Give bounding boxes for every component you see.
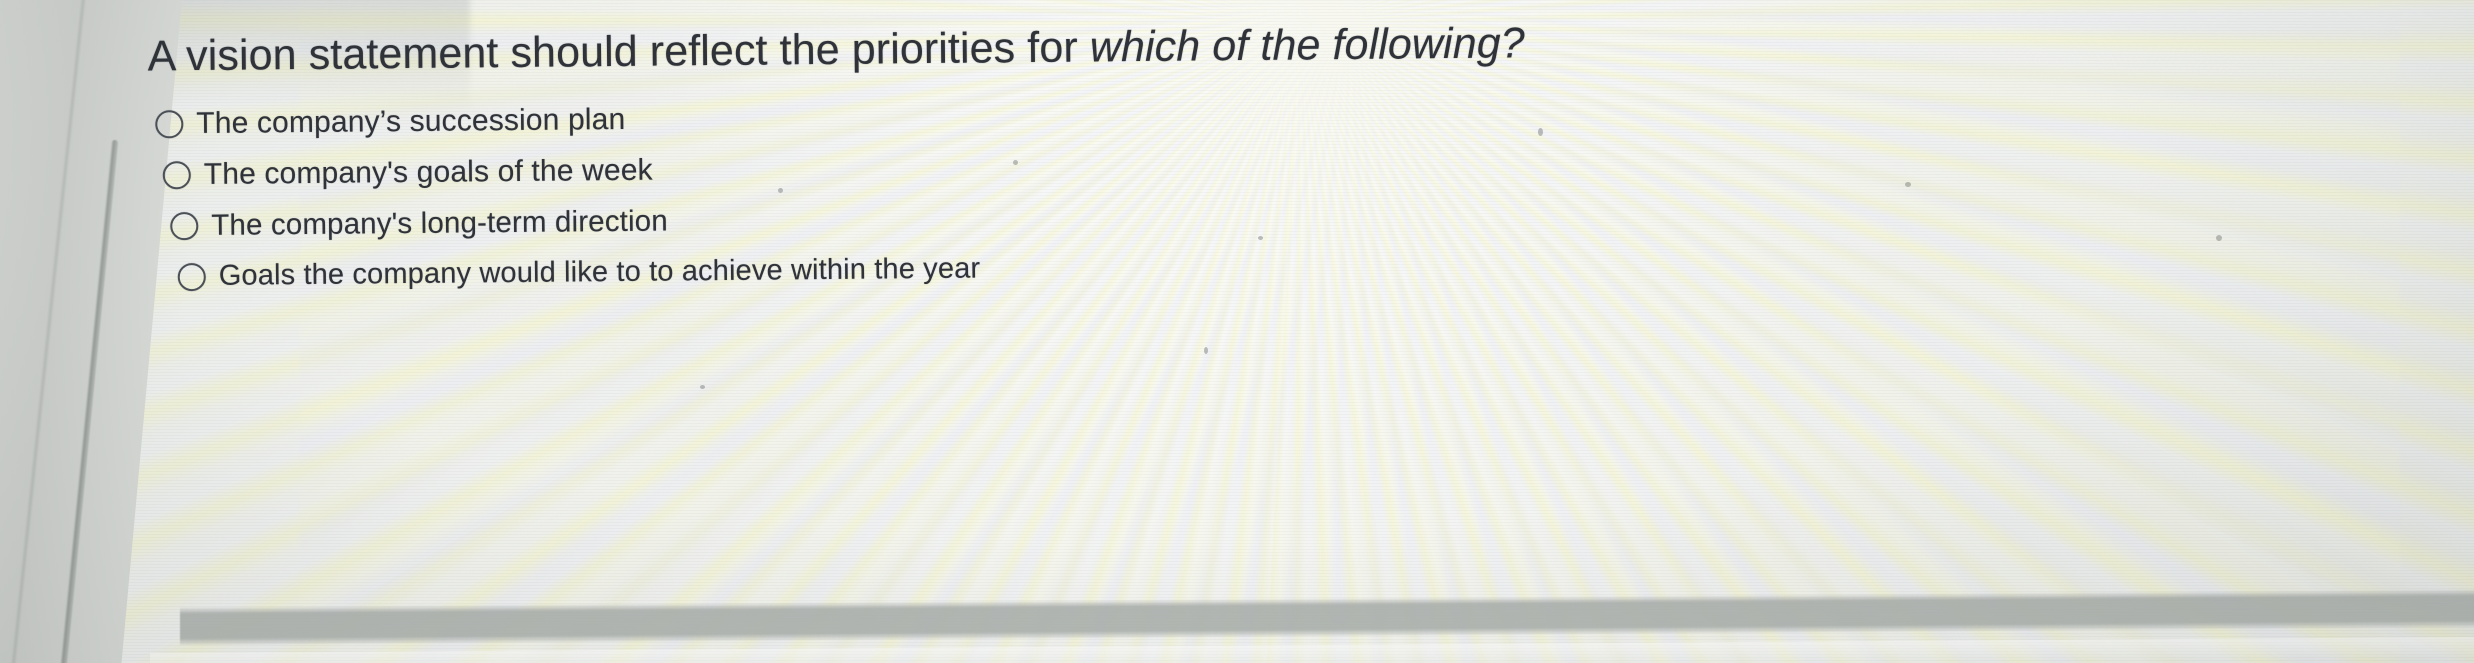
option-row-a[interactable]: The company’s succession plan — [155, 91, 979, 150]
answer-options-list: The company’s succession plan The compan… — [148, 91, 980, 303]
option-row-d[interactable]: Goals the company would like to to achie… — [178, 244, 981, 303]
option-label-a: The company’s succession plan — [196, 102, 625, 140]
radio-button-icon-a[interactable] — [155, 110, 183, 138]
option-label-d: Goals the company would like to to achie… — [219, 253, 981, 293]
option-row-c[interactable]: The company's long-term direction — [170, 193, 980, 252]
question-stem-italic: which of the following? — [1090, 19, 1525, 71]
radio-button-icon-d[interactable] — [178, 262, 206, 290]
option-row-b[interactable]: The company's goals of the week — [163, 142, 980, 201]
page-title: A vision statement should reflect the pr… — [147, 17, 1525, 84]
question-content: A vision statement should reflect the pr… — [0, 0, 2474, 663]
option-label-c: The company's long-term direction — [211, 204, 668, 242]
question-stem-regular: A vision statement should reflect the pr… — [147, 23, 1090, 80]
radio-button-icon-b[interactable] — [163, 161, 191, 189]
radio-button-icon-c[interactable] — [170, 212, 198, 240]
screen-photo: A vision statement should reflect the pr… — [0, 0, 2474, 663]
option-label-b: The company's goals of the week — [204, 153, 653, 191]
